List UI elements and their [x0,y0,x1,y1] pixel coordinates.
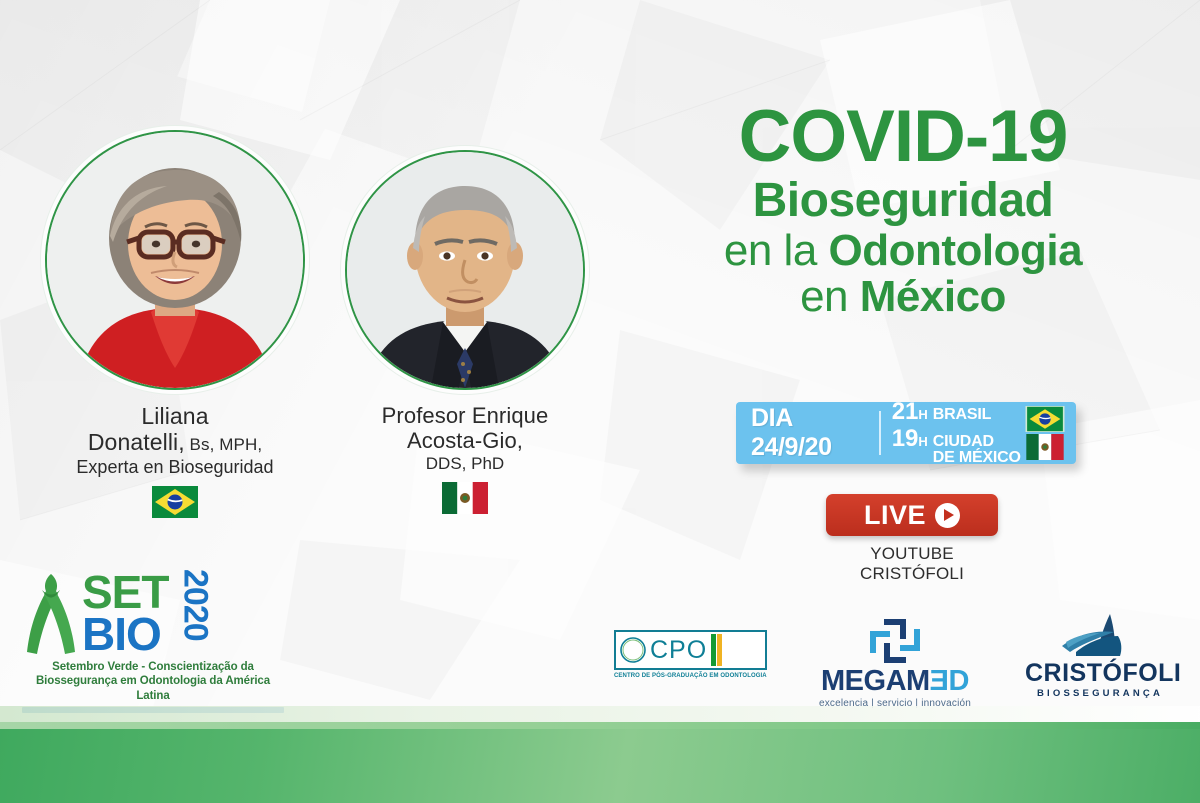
mexico-flag [442,482,488,514]
banner-times: 21 H BRASIL 19 H CIUDAD DE MÉXICO [881,400,1021,466]
speaker-1-name-line1: Liliana [30,404,320,430]
megamed-logo: MEGAMED excelencia | servicio | innovaci… [805,616,985,709]
headline: COVID-19 Bioseguridad en la Odontologia … [688,100,1118,319]
headline-mexico: México [860,272,1006,321]
banner-flags [1021,404,1076,462]
setbio-word-set: SET [82,571,168,613]
headline-line-odontologia: en la Odontologia [688,229,1118,273]
megamed-name: MEGAMED [805,667,985,696]
footer-light-strip [0,706,1200,722]
cpo-yellow-bar [717,634,722,666]
banner-date: DIA 24/9/20 [736,404,879,462]
cpo-name: CPO [650,636,707,665]
live-section: LIVE YOUTUBE CRISTÓFOLI [826,494,998,584]
banner-time-brasil-unit: H [918,408,927,421]
brazil-flag [1025,406,1065,432]
footer-green-strip [0,722,1200,803]
banner-time-mexico-place: CIUDAD DE MÉXICO [933,434,1021,466]
live-channel: YOUTUBE CRISTÓFOLI [826,544,998,584]
speaker-2-name-line1: Profesor Enrique [330,404,600,429]
cristofoli-name: CRISTÓFOLI [1025,661,1175,686]
headline-en: en [800,272,860,321]
headline-line-bioseguridad: Bioseguridad [688,177,1118,225]
speaker-2-name-line2: Acosta-Gio, [330,429,600,454]
speaker-1-degrees: Bs, MPH, [185,435,262,454]
play-icon [935,503,960,528]
cristofoli-subtitle: BIOSSEGURANÇA [1025,688,1175,699]
banner-time-mexico-place-l1: CIUDAD [933,434,1021,450]
live-label: LIVE [864,500,926,531]
speaker-1-role: Experta en Bioseguridad [30,457,320,477]
banner-divider [879,411,881,455]
setbio-tagline-line1: Setembro Verde - Conscientização da [22,660,284,674]
cristofoli-logo: CRISTÓFOLI BIOSSEGURANÇA [1025,612,1175,699]
headline-line-mexico: en México [688,275,1118,319]
footer-band [0,706,1200,803]
megamed-name-part1: MEGAM [821,665,930,697]
megamed-name-part2: E [930,667,949,696]
brazil-flag [152,486,198,518]
banner-time-mexico-unit: H [918,435,927,448]
headline-line-covid: COVID-19 [688,100,1118,173]
tooth-icon [620,637,646,663]
live-button[interactable]: LIVE [826,494,998,536]
banner-time-brasil-hour: 21 [892,400,919,424]
speaker-name-2: Profesor Enrique Acosta-Gio, DDS, PhD [330,404,600,473]
setbio-year: 2020 [175,569,214,641]
headline-enla: en la [724,226,829,275]
setbio-word-bio: BIO [82,613,168,655]
footer-top-edge [0,722,1200,729]
webinar-poster: Liliana Donatelli, Bs, MPH, Experta en B… [0,0,1200,803]
megamed-name-part3: D [949,665,969,697]
speaker-card-2: Profesor Enrique Acosta-Gio, DDS, PhD [330,152,600,514]
cpo-logo: CPO CENTRO DE PÓS-GRADUAÇÃO EM ODONTOLOG… [614,630,767,679]
speaker-name-1: Liliana Donatelli, Bs, MPH, Experta en B… [30,404,320,477]
banner-time-brasil: 21 H BRASIL [892,400,1021,424]
setbio-tagline: Setembro Verde - Conscientização da Bios… [22,660,284,703]
cristofoli-mark-icon [1052,612,1148,660]
cpo-green-bar [711,634,716,666]
sponsor-logos: CPO CENTRO DE PÓS-GRADUAÇÃO EM ODONTOLOG… [600,612,1180,698]
speaker-card-1: Liliana Donatelli, Bs, MPH, Experta en B… [30,132,320,518]
banner-time-mexico: 19 H CIUDAD DE MÉXICO [892,427,1021,466]
headline-odontologia: Odontologia [829,226,1083,275]
megamed-mark-icon [867,616,923,666]
date-time-banner: DIA 24/9/20 21 H BRASIL 19 H CIUDAD DE M… [736,402,1076,464]
banner-time-mexico-hour: 19 [892,427,919,451]
speaker-2-role: DDS, PhD [330,454,600,473]
speaker-1-name-line2: Donatelli, Bs, MPH, [30,430,320,456]
speaker-photo-1 [47,132,303,388]
mexico-flag [1025,434,1065,460]
setbio-tagline-line2: Biossegurança em Odontologia da América … [22,674,284,703]
cpo-subtitle: CENTRO DE PÓS-GRADUAÇÃO EM ODONTOLOGIA [614,673,767,679]
banner-time-brasil-place: BRASIL [933,407,991,423]
banner-time-mexico-place-l2: DE MÉXICO [933,450,1021,466]
speaker-photo-2 [347,152,583,388]
setbio-logo: SET BIO 2020 Setembro Verde - Conscienti… [22,570,284,713]
green-ribbon-icon [22,570,80,656]
